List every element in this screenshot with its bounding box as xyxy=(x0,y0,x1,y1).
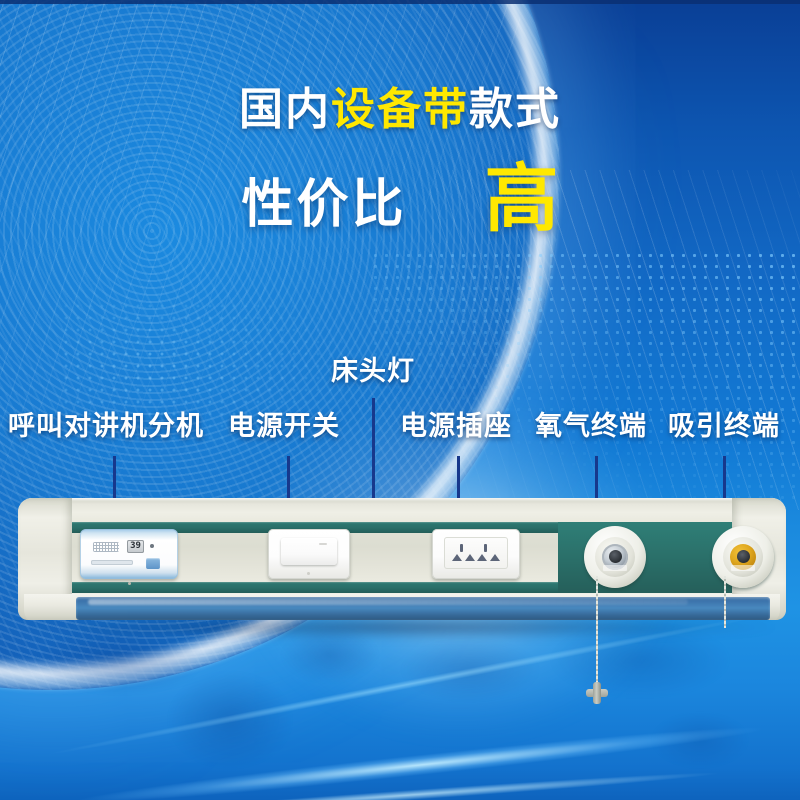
bed-head-panel: 39 xyxy=(18,498,786,633)
socket-pin-icon xyxy=(490,554,500,561)
mount-screw-icon xyxy=(128,582,131,585)
oxygen-terminal[interactable] xyxy=(584,526,646,588)
callout-label-switch: 电源开关 xyxy=(228,413,340,440)
subheadline-highlight: 高 xyxy=(485,162,559,236)
headline-part-2: 设备带 xyxy=(331,88,469,132)
oxygen-pull-cord[interactable] xyxy=(596,576,598,686)
cord-handle-cross-icon xyxy=(593,682,601,704)
rocker-switch-button[interactable] xyxy=(281,538,337,565)
panel-body: 39 xyxy=(18,498,786,620)
intercom-label-strip xyxy=(91,560,133,565)
port-hole-icon xyxy=(737,550,750,563)
socket-pin-icon xyxy=(477,554,487,561)
terminal-label-plate xyxy=(731,565,755,571)
socket-pin-icon xyxy=(452,554,462,561)
halftone-dots-right xyxy=(370,250,800,500)
socket-slot-icon xyxy=(460,544,463,552)
top-edge-bar xyxy=(0,0,800,4)
intercom-call-button[interactable] xyxy=(146,558,160,569)
subheadline: 性价比高 xyxy=(0,168,800,242)
callout-label-socket: 电源插座 xyxy=(400,413,512,440)
callout-label-suction: 吸引终端 xyxy=(668,413,780,440)
oxygen-cord-handle[interactable] xyxy=(586,682,608,704)
poster-canvas: 国内设备带款式 性价比高 呼叫对讲机分机 电源开关 床头灯 电源插座 氧气终端 … xyxy=(0,0,800,800)
socket-face xyxy=(444,537,508,569)
suction-pull-cord[interactable] xyxy=(724,576,726,628)
headline-part-1: 国内 xyxy=(239,88,331,132)
headline: 国内设备带款式 xyxy=(0,88,800,132)
headline-part-3: 款式 xyxy=(469,88,561,132)
port-hole-icon xyxy=(609,550,622,563)
intercom-display: 39 xyxy=(127,540,144,553)
subheadline-text: 性价比 xyxy=(241,176,406,234)
panel-strip-gloss xyxy=(88,599,688,605)
nurse-call-intercom[interactable]: 39 xyxy=(80,529,178,579)
power-switch[interactable] xyxy=(268,529,350,579)
socket-slot-icon xyxy=(484,544,487,552)
switch-tick-mark-icon xyxy=(319,543,327,545)
status-led-icon xyxy=(150,544,154,548)
callout-label-intercom: 呼叫对讲机分机 xyxy=(8,413,204,440)
callout-label-bed-lamp: 床头灯 xyxy=(331,358,415,385)
suction-terminal[interactable] xyxy=(712,526,774,588)
callout-label-oxygen: 氧气终端 xyxy=(535,413,647,440)
socket-pin-icon xyxy=(465,554,475,561)
terminal-label-plate xyxy=(603,565,627,571)
mount-screw-icon xyxy=(307,572,310,575)
power-socket[interactable] xyxy=(432,529,520,579)
speaker-grille-icon xyxy=(93,542,119,552)
